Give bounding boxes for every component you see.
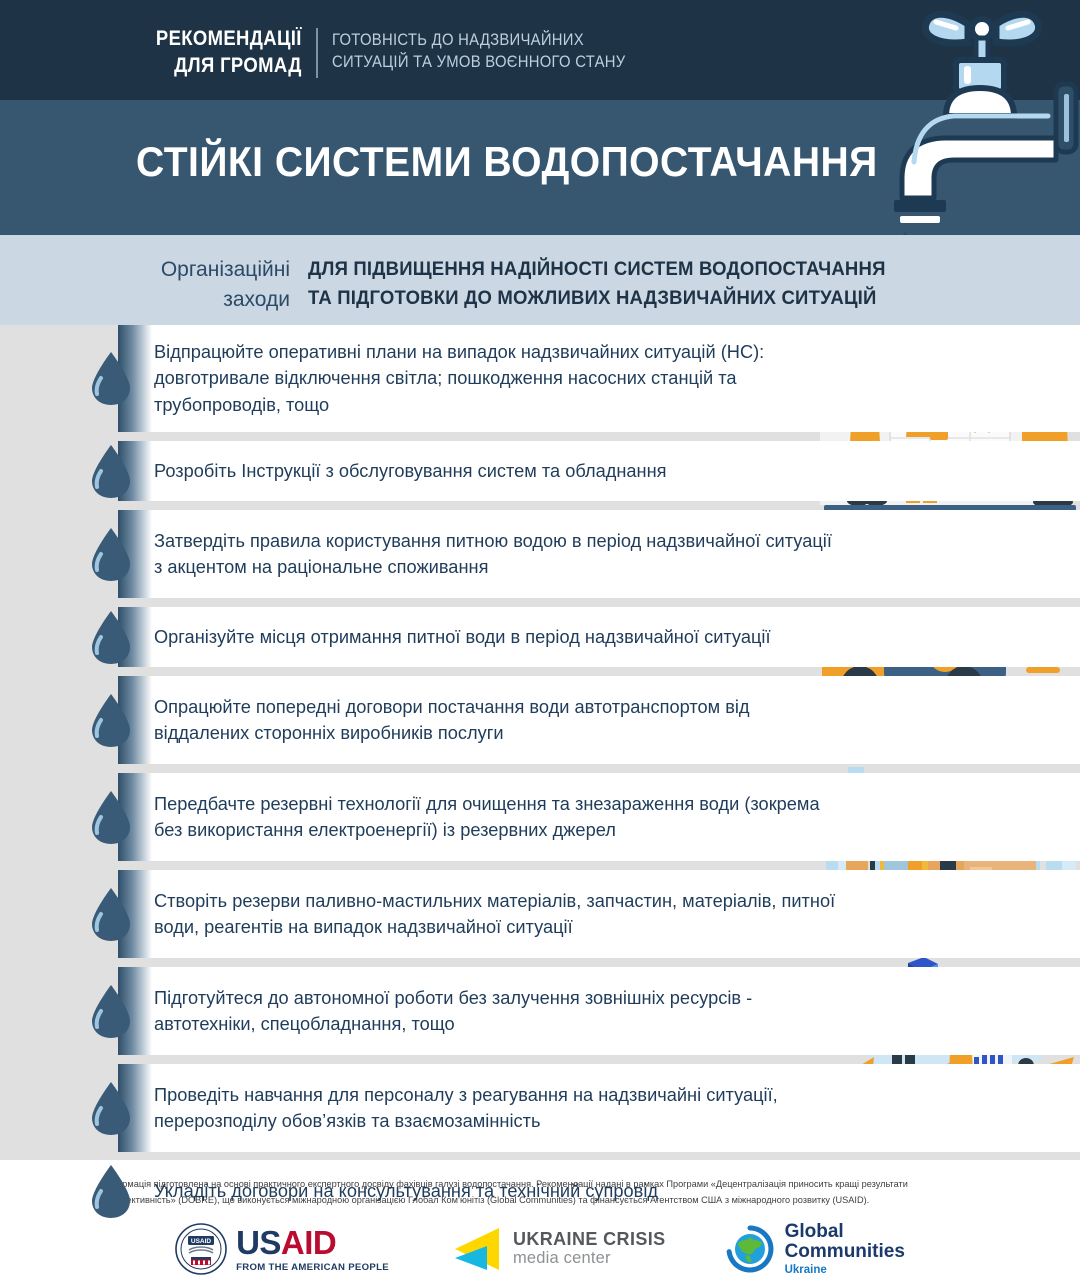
recommendation-row[interactable]: Створіть резерви паливно-мастильних мате…: [0, 870, 1080, 958]
water-drop-bullet-icon: [88, 789, 134, 845]
subtitle-band: Організаційні заходи ДЛЯ ПІДВИЩЕННЯ НАДІ…: [0, 235, 1080, 325]
recommendation-card[interactable]: Розробіть Інструкції з обслуговування си…: [118, 441, 1080, 501]
recommendation-text: Проведіть навчання для персоналу з реагу…: [154, 1082, 844, 1135]
recommendation-text: Розробіть Інструкції з обслуговування си…: [154, 458, 667, 484]
recommendation-card[interactable]: Затвердіть правила користування питною в…: [118, 510, 1080, 598]
ucmc-subtitle: media center: [513, 1249, 666, 1268]
gc-line-2: Communities: [785, 1242, 905, 1262]
ucmc-arrow-icon: [449, 1226, 501, 1272]
globe-icon: [726, 1225, 774, 1273]
recommendation-text: Опрацюйте попередні договори постачання …: [154, 694, 844, 747]
recommendation-text: Відпрацюйте оперативні плани на випадок …: [154, 339, 844, 418]
recommendation-card[interactable]: Створіть резерви паливно-мастильних мате…: [118, 870, 1080, 958]
recommendations-area: Відпрацюйте оперативні плани на випадок …: [0, 325, 1080, 1160]
gc-line-1: Global: [785, 1222, 905, 1242]
global-communities-logo: Global Communities Ukraine: [726, 1222, 905, 1276]
ucmc-wordmark: UKRAINE CRISIS media center: [513, 1230, 666, 1268]
usaid-logo: USAID USAID FROM THE AMERICAN PEOPLE: [175, 1223, 389, 1275]
recommendation-row[interactable]: Відпрацюйте оперативні плани на випадок …: [0, 325, 1080, 432]
water-drop-bullet-icon: [88, 526, 134, 582]
recommendation-text: Організуйте місця отримання питної води …: [154, 624, 771, 650]
usaid-tagline: FROM THE AMERICAN PEOPLE: [236, 1262, 389, 1273]
subtitle-label-line-1: Організаційні: [70, 255, 290, 285]
ucmc-title: UKRAINE CRISIS: [513, 1230, 666, 1249]
brand-tagline: ГОТОВНІСТЬ ДО НАДЗВИЧАЙНИХ СИТУАЦІЙ ТА У…: [332, 26, 625, 73]
page-title: СТІЙКІ СИСТЕМИ ВОДОПОСТАЧАННЯ: [136, 138, 878, 186]
recommendation-row[interactable]: Опрацюйте попередні договори постачання …: [0, 676, 1080, 764]
tagline-line-2: СИТУАЦІЙ ТА УМОВ ВОЄННОГО СТАНУ: [332, 51, 625, 73]
brand-line-1: РЕКОМЕНДАЦІЇ: [156, 26, 302, 53]
water-drop-bullet-icon: [88, 1163, 134, 1219]
recommendation-row[interactable]: Передбачте резервні технології для очище…: [0, 773, 1080, 861]
usaid-wordmark: USAID FROM THE AMERICAN PEOPLE: [236, 1226, 389, 1273]
recommendations-list: Відпрацюйте оперативні плани на випадок …: [0, 325, 1080, 1230]
recommendation-text: Підготуйтеся до автономної роботи без за…: [154, 985, 844, 1038]
svg-text:USAID: USAID: [191, 1238, 212, 1245]
recommendation-text: Затвердіть правила користування питною в…: [154, 528, 844, 581]
subtitle-heading-line-1: ДЛЯ ПІДВИЩЕННЯ НАДІЙНОСТІ СИСТЕМ ВОДОПОС…: [308, 255, 886, 284]
brand-block: РЕКОМЕНДАЦІЇ ДЛЯ ГРОМАД ГОТОВНІСТЬ ДО НА…: [136, 26, 658, 80]
gc-line-3: Ukraine: [785, 1264, 905, 1276]
water-drop-bullet-icon: [88, 443, 134, 499]
global-communities-wordmark: Global Communities Ukraine: [785, 1222, 905, 1276]
recommendation-card[interactable]: Опрацюйте попередні договори постачання …: [118, 676, 1080, 764]
brand-divider: [316, 28, 318, 78]
recommendation-card[interactable]: Проведіть навчання для персоналу з реагу…: [118, 1064, 1080, 1152]
recommendation-text: Створіть резерви паливно-мастильних мате…: [154, 888, 844, 941]
recommendation-card[interactable]: Підготуйтеся до автономної роботи без за…: [118, 967, 1080, 1055]
usaid-aid: AID: [281, 1224, 336, 1261]
title-band: СТІЙКІ СИСТЕМИ ВОДОПОСТАЧАННЯ: [0, 100, 1080, 235]
water-drop-bullet-icon: [88, 692, 134, 748]
logo-row: USAID USAID FROM THE AMERICAN PEOPLE: [0, 1218, 1080, 1280]
water-drop-bullet-icon: [88, 1080, 134, 1136]
recommendation-row[interactable]: Підготуйтеся до автономної роботи без за…: [0, 967, 1080, 1055]
recommendation-row[interactable]: Розробіть Інструкції з обслуговування си…: [0, 441, 1080, 501]
recommendation-row[interactable]: Затвердіть правила користування питною в…: [0, 510, 1080, 598]
water-drop-bullet-icon: [88, 350, 134, 406]
water-drop-bullet-icon: [88, 983, 134, 1039]
top-header-bar: РЕКОМЕНДАЦІЇ ДЛЯ ГРОМАД ГОТОВНІСТЬ ДО НА…: [0, 0, 1080, 100]
brand-line-2: ДЛЯ ГРОМАД: [156, 53, 302, 80]
infographic-page: РЕКОМЕНДАЦІЇ ДЛЯ ГРОМАД ГОТОВНІСТЬ ДО НА…: [0, 0, 1080, 1280]
usaid-name: USAID: [236, 1226, 389, 1259]
recommendation-text: Укладіть договори на консультування та т…: [154, 1178, 658, 1204]
subtitle-heading: ДЛЯ ПІДВИЩЕННЯ НАДІЙНОСТІ СИСТЕМ ВОДОПОС…: [308, 255, 886, 314]
water-drop-bullet-icon: [88, 609, 134, 665]
recommendation-card[interactable]: Відпрацюйте оперативні плани на випадок …: [118, 325, 1080, 432]
recommendation-row[interactable]: Проведіть навчання для персоналу з реагу…: [0, 1064, 1080, 1152]
usaid-us: US: [236, 1224, 281, 1261]
usaid-seal-icon: USAID: [175, 1223, 227, 1275]
ukraine-crisis-media-center-logo: UKRAINE CRISIS media center: [449, 1226, 666, 1272]
subtitle-label: Організаційні заходи: [70, 255, 290, 316]
recommendation-row[interactable]: Організуйте місця отримання питної води …: [0, 607, 1080, 667]
subtitle-label-line-2: заходи: [70, 285, 290, 315]
tagline-line-1: ГОТОВНІСТЬ ДО НАДЗВИЧАЙНИХ: [332, 29, 625, 51]
recommendation-text: Передбачте резервні технології для очище…: [154, 791, 844, 844]
recommendation-card[interactable]: Організуйте місця отримання питної води …: [118, 607, 1080, 667]
subtitle-heading-line-2: ТА ПІДГОТОВКИ ДО МОЖЛИВИХ НАДЗВИЧАЙНИХ С…: [308, 284, 886, 313]
recommendation-card[interactable]: Передбачте резервні технології для очище…: [118, 773, 1080, 861]
water-drop-bullet-icon: [88, 886, 134, 942]
brand-title: РЕКОМЕНДАЦІЇ ДЛЯ ГРОМАД: [156, 26, 302, 80]
